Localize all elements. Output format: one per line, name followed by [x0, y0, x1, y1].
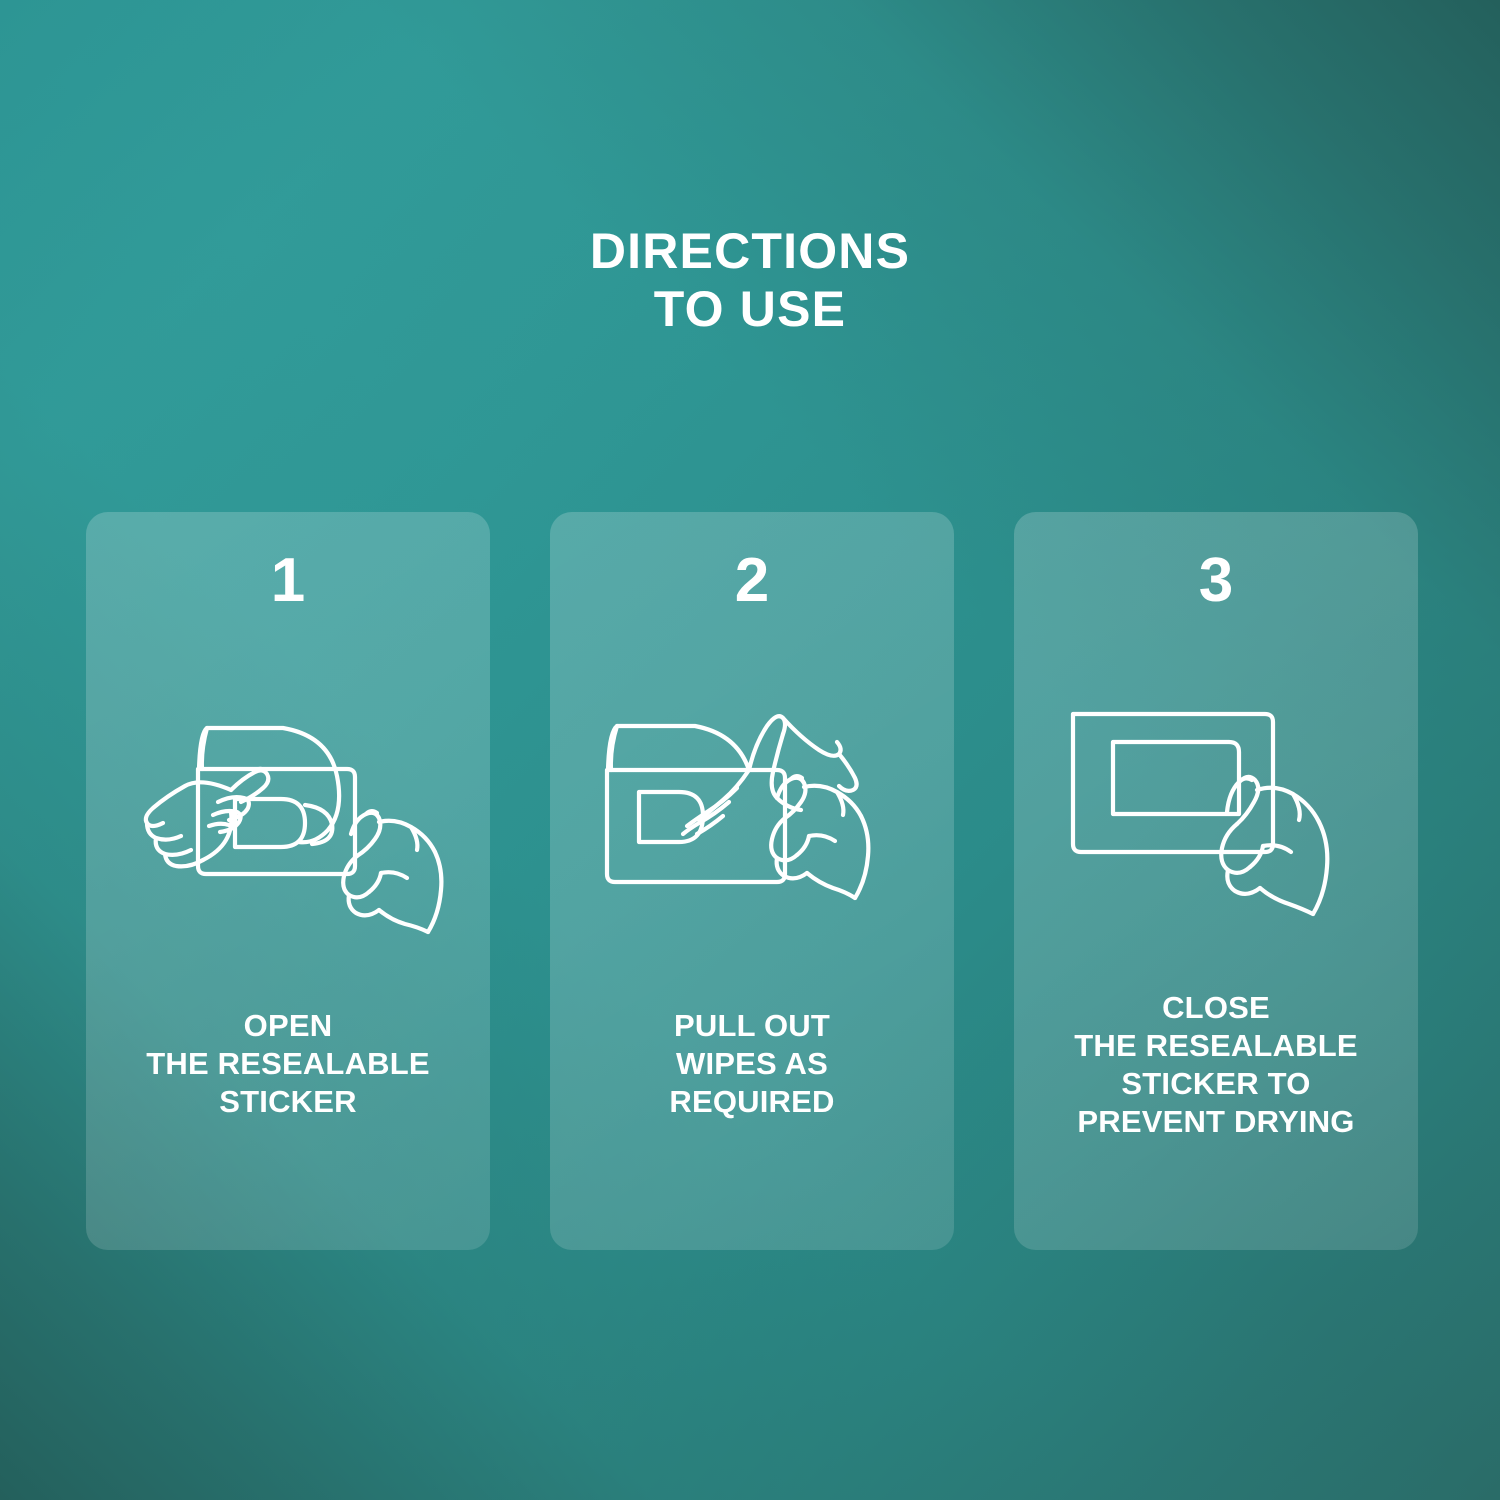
step-card-1: 1 — [86, 512, 490, 1250]
step-card-2: 2 — [550, 512, 954, 1250]
step-number-2: 2 — [550, 548, 954, 614]
hands-peeling-resealable-sticker-icon — [123, 692, 453, 942]
step-caption-2-line-1: PULL OUT — [560, 1007, 944, 1045]
step-illustration-3 — [1014, 662, 1418, 972]
step-caption-2: PULL OUT WIPES AS REQUIRED — [560, 1007, 944, 1121]
step-caption-3-line-3: STICKER TO — [1024, 1065, 1408, 1103]
step-number-3: 3 — [1014, 548, 1418, 614]
step-illustration-1 — [86, 662, 490, 972]
page-title-line-1: DIRECTIONS — [0, 222, 1500, 280]
step-number-1: 1 — [86, 548, 490, 614]
hand-pressing-sticker-closed-icon — [1051, 692, 1381, 942]
step-caption-1: OPEN THE RESEALABLE STICKER — [96, 1007, 480, 1121]
page-title: DIRECTIONS TO USE — [0, 222, 1500, 338]
steps-container: 1 — [86, 512, 1418, 1250]
step-caption-2-line-3: REQUIRED — [560, 1083, 944, 1121]
step-caption-2-line-2: WIPES AS — [560, 1045, 944, 1083]
step-card-3: 3 — [1014, 512, 1418, 1250]
page-title-line-2: TO USE — [0, 280, 1500, 338]
step-illustration-2 — [550, 662, 954, 972]
step-caption-1-line-3: STICKER — [96, 1083, 480, 1121]
hand-pulling-wipe-from-pack-icon — [587, 692, 917, 942]
step-caption-3-line-1: CLOSE — [1024, 989, 1408, 1027]
step-caption-1-line-2: THE RESEALABLE — [96, 1045, 480, 1083]
step-caption-3-line-4: PREVENT DRYING — [1024, 1103, 1408, 1141]
step-caption-3-line-2: THE RESEALABLE — [1024, 1027, 1408, 1065]
step-caption-3: CLOSE THE RESEALABLE STICKER TO PREVENT … — [1024, 989, 1408, 1141]
step-caption-1-line-1: OPEN — [96, 1007, 480, 1045]
